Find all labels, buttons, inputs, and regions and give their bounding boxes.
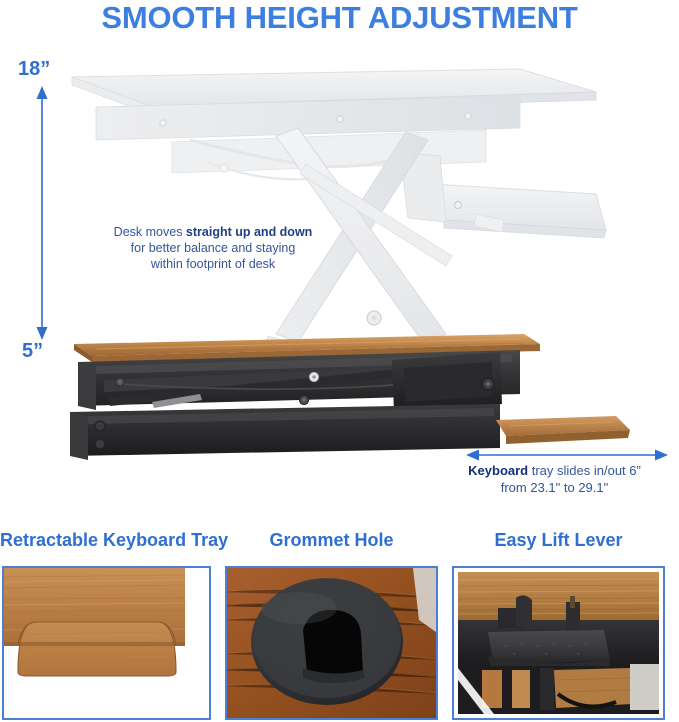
- note-line2: for better balance and staying: [131, 241, 296, 255]
- panel-caption-grommet-hole: Grommet Hole: [225, 528, 438, 552]
- wood-keyboard-tray-image: [4, 568, 209, 718]
- feature-panels: Retractable Keyboard Tray Grommet Hole E…: [0, 528, 679, 722]
- panel-caption-retractable-keyboard-tray: Retractable Keyboard Tray: [0, 528, 213, 552]
- keyboard-tray-note: Keyboard tray slides in/out 6” from 23.1…: [430, 462, 679, 496]
- kb-note-bold: Keyboard: [468, 463, 528, 478]
- note-line1-prefix: Desk moves: [114, 225, 186, 239]
- panel-retractable-keyboard-tray: [2, 566, 211, 720]
- page-title: SMOOTH HEIGHT ADJUSTMENT: [0, 0, 679, 36]
- note-line3: within footprint of desk: [151, 257, 275, 271]
- height-range-arrow: [36, 86, 48, 340]
- kb-note-line2: from 23.1" to 29.1": [501, 480, 609, 495]
- height-adjustment-illustration: 18” 5” Desk moves straight up and down f…: [0, 44, 679, 514]
- panel-easy-lift-lever: [452, 566, 665, 720]
- straight-travel-note: Desk moves straight up and down for bett…: [88, 224, 338, 272]
- product-artwork: [0, 44, 679, 514]
- min-height-label: 5”: [22, 340, 43, 363]
- keyboard-travel-arrow: [466, 449, 668, 461]
- panel-caption-easy-lift-lever: Easy Lift Lever: [452, 528, 665, 552]
- max-height-label: 18”: [18, 58, 50, 81]
- easy-lift-lever-image: [454, 568, 663, 718]
- grommet-hole-image: [227, 568, 436, 718]
- kb-note-rest: tray slides in/out 6”: [528, 463, 641, 478]
- note-line1-bold: straight up and down: [186, 225, 312, 239]
- panel-grommet-hole: [225, 566, 438, 720]
